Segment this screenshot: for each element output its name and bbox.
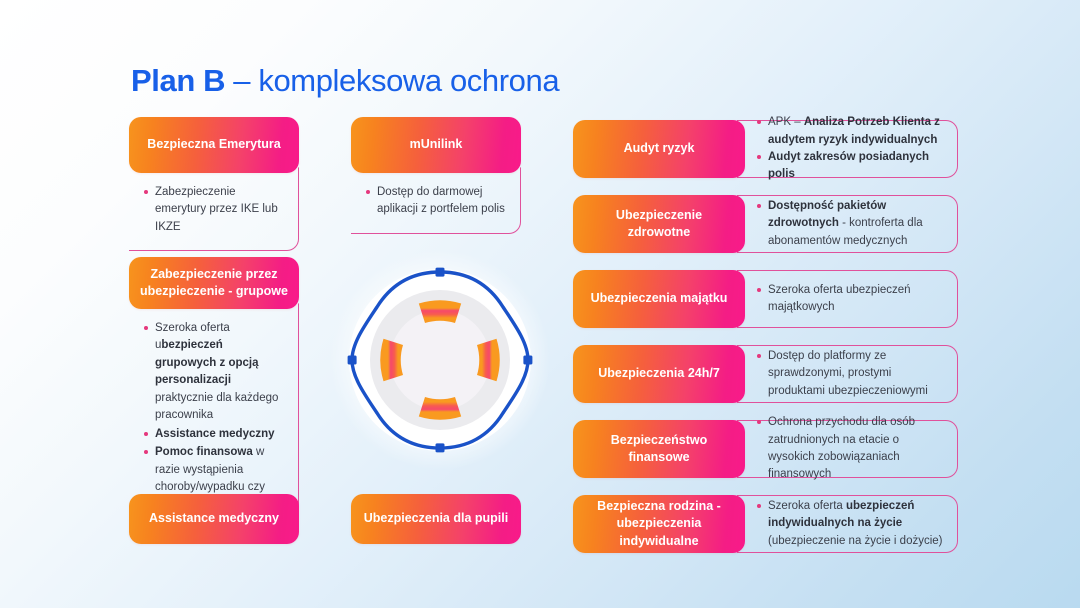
- card-assistance-medyczny[interactable]: Assistance medyczny: [129, 494, 299, 544]
- bullet-list: APK – Analiza Potrzeb Klienta z audytem …: [756, 114, 947, 184]
- rope-knot-north: [436, 268, 445, 277]
- bullet-item: Ochrona przychodu dla osób zatrudnionych…: [756, 414, 947, 484]
- card-header: Bezpieczna Emerytura: [129, 117, 299, 173]
- card-body: APK – Analiza Potrzeb Klienta z audytem …: [737, 120, 958, 178]
- bullet-item: Szeroka oferta ubezpieczeń grupowych z o…: [143, 320, 286, 425]
- card-header: Bezpieczna rodzina - ubezpieczenia indyw…: [573, 495, 745, 553]
- card-bezpieczenstwo-finansowe[interactable]: Bezpieczeństwo finansowe Ochrona przycho…: [573, 420, 958, 478]
- bullet-list: Dostęp do platformy ze sprawdzonymi, pro…: [756, 348, 947, 400]
- card-header: Audyt ryzyk: [573, 120, 745, 178]
- page-title: Plan B – kompleksowa ochrona: [131, 62, 559, 99]
- bullet-item: Assistance medyczny: [143, 426, 286, 443]
- bullet-item: Szeroka oferta ubezpieczeń indywidualnyc…: [756, 498, 947, 550]
- card-body: Ochrona przychodu dla osób zatrudnionych…: [737, 420, 958, 478]
- card-body: Dostępność pakietów zdrowotnych - kontro…: [737, 195, 958, 253]
- card-header: Zabezpieczenie przez ubezpieczenie - gru…: [129, 257, 299, 309]
- bullet-item: Dostęp do platformy ze sprawdzonymi, pro…: [756, 348, 947, 400]
- card-bezpieczna-emerytura[interactable]: Bezpieczna Emerytura Zabezpieczenie emer…: [129, 117, 299, 251]
- card-body: Zabezpieczenie emerytury przez IKE lub I…: [129, 167, 299, 251]
- card-body: Szeroka oferta ubezpieczeń majątkowych: [737, 270, 958, 328]
- bullet-list: Szeroka oferta ubezpieczeń majątkowych: [756, 282, 947, 317]
- bullet-item: APK – Analiza Potrzeb Klienta z audytem …: [756, 114, 947, 149]
- card-ubezpieczenia-majatku[interactable]: Ubezpieczenia majątku Szeroka oferta ube…: [573, 270, 958, 328]
- bullet-item: Dostęp do darmowej aplikacji z portfelem…: [365, 184, 508, 219]
- bullet-item: Szeroka oferta ubezpieczeń majątkowych: [756, 282, 947, 317]
- card-header: Ubezpieczenia 24h/7: [573, 345, 745, 403]
- bullet-list: Szeroka oferta ubezpieczeń grupowych z o…: [143, 320, 286, 514]
- card-header: Assistance medyczny: [129, 494, 299, 544]
- card-header: Ubezpieczenie zdrowotne: [573, 195, 745, 253]
- bullet-item: Audyt zakresów posiadanych polis: [756, 149, 947, 184]
- card-ubezpieczenie-zdrowotne[interactable]: Ubezpieczenie zdrowotne Dostępność pakie…: [573, 195, 958, 253]
- card-header: mUnilink: [351, 117, 521, 173]
- card-body: Dostęp do platformy ze sprawdzonymi, pro…: [737, 345, 958, 403]
- card-ubezpieczenia-dla-pupili[interactable]: Ubezpieczenia dla pupili: [351, 494, 521, 544]
- bullet-item: Zabezpieczenie emerytury przez IKE lub I…: [143, 184, 286, 236]
- rope-knot-south: [436, 443, 445, 452]
- card-header: Ubezpieczenia dla pupili: [351, 494, 521, 544]
- card-bezpieczna-rodzina[interactable]: Bezpieczna rodzina - ubezpieczenia indyw…: [573, 495, 958, 553]
- card-zabezpieczenie-grupowe[interactable]: Zabezpieczenie przez ubezpieczenie - gru…: [129, 257, 299, 529]
- rope-knot-east: [523, 356, 532, 365]
- bullet-list: Ochrona przychodu dla osób zatrudnionych…: [756, 414, 947, 484]
- card-body: Dostęp do darmowej aplikacji z portfelem…: [351, 167, 521, 234]
- rope-knot-west: [348, 356, 357, 365]
- card-audyt-ryzyk[interactable]: Audyt ryzyk APK – Analiza Potrzeb Klient…: [573, 120, 958, 178]
- card-header: Bezpieczeństwo finansowe: [573, 420, 745, 478]
- bullet-list: Dostęp do darmowej aplikacji z portfelem…: [365, 184, 508, 219]
- card-header: Ubezpieczenia majątku: [573, 270, 745, 328]
- lifebuoy-icon: [327, 247, 553, 473]
- bullet-item: Dostępność pakietów zdrowotnych - kontro…: [756, 198, 947, 250]
- card-munilink[interactable]: mUnilink Dostęp do darmowej aplikacji z …: [351, 117, 521, 234]
- bullet-list: Dostępność pakietów zdrowotnych - kontro…: [756, 198, 947, 250]
- card-body: Szeroka oferta ubezpieczeń indywidualnyc…: [737, 495, 958, 553]
- card-ubezpieczenia-24h7[interactable]: Ubezpieczenia 24h/7 Dostęp do platformy …: [573, 345, 958, 403]
- infographic-stage: Plan B – kompleksowa ochrona Bezpieczna …: [0, 0, 1080, 608]
- page-title-rest: – kompleksowa ochrona: [225, 63, 559, 98]
- bullet-list: Szeroka oferta ubezpieczeń indywidualnyc…: [756, 498, 947, 550]
- page-title-strong: Plan B: [131, 63, 225, 98]
- bullet-list: Zabezpieczenie emerytury przez IKE lub I…: [143, 184, 286, 236]
